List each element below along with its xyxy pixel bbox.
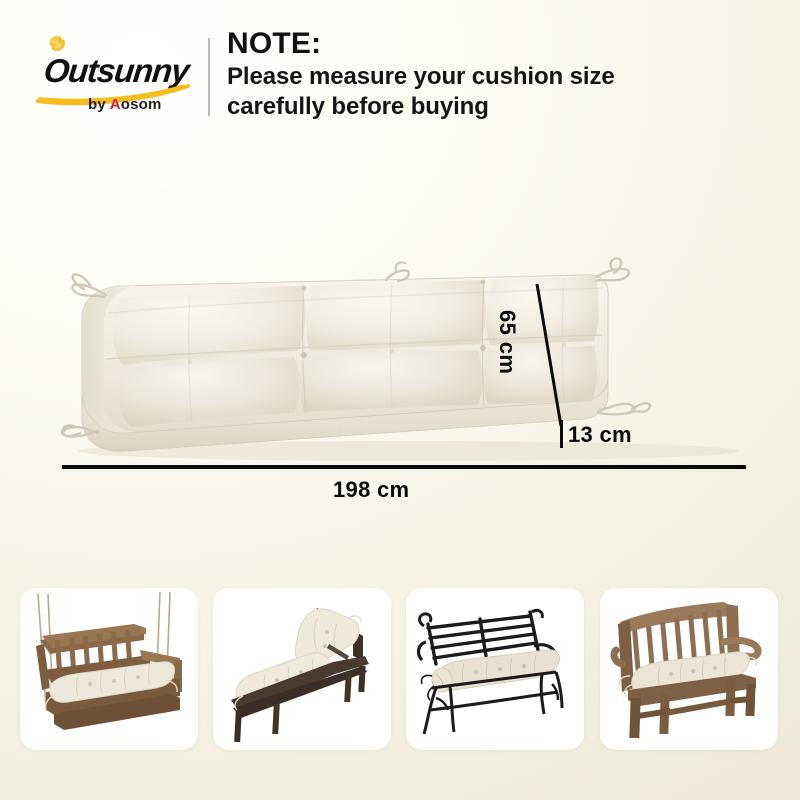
wooden-porch-swing-illustration xyxy=(20,588,198,750)
logo-byline: by Aosom xyxy=(88,96,162,113)
thumb-wooden-bench[interactable] xyxy=(600,588,778,750)
product-infographic-page: Outsunny by Aosom NOTE: Please measure y… xyxy=(0,0,800,800)
rattan-chaise-lounge-illustration xyxy=(213,588,391,750)
tufted-bench-cushion-illustration xyxy=(40,255,760,470)
byline-prefix: by xyxy=(88,96,110,113)
brand-logo: Outsunny by Aosom xyxy=(26,30,198,116)
thumb-porch-swing[interactable] xyxy=(20,588,198,750)
byline-rest: osom xyxy=(121,96,162,113)
byline-a: A xyxy=(110,96,121,113)
wooden-garden-bench-illustration xyxy=(600,588,778,750)
note-line-2: carefully before buying xyxy=(227,92,772,121)
header: Outsunny by Aosom NOTE: Please measure y… xyxy=(0,0,800,150)
cushion-image xyxy=(40,255,760,470)
header-divider xyxy=(208,38,210,116)
application-thumbnails xyxy=(0,588,800,753)
dimension-line-length xyxy=(62,465,746,469)
dimension-label-thickness: 13 cm xyxy=(568,422,632,448)
metal-garden-bench-illustration xyxy=(406,588,584,750)
dimension-line-height xyxy=(520,280,580,430)
thumb-metal-bench[interactable] xyxy=(406,588,584,750)
dimension-line-thickness xyxy=(560,420,563,448)
dimension-label-length: 198 cm xyxy=(333,477,409,503)
note-line-1: Please measure your cushion size xyxy=(227,62,772,91)
note-block: NOTE: Please measure your cushion size c… xyxy=(227,28,772,121)
dimension-label-height: 65 cm xyxy=(494,310,520,400)
hero-product-area: 198 cm 65 cm 13 cm xyxy=(0,150,800,570)
thumb-chaise-lounge[interactable] xyxy=(213,588,391,750)
note-title: NOTE: xyxy=(227,28,772,60)
note-body: Please measure your cushion size careful… xyxy=(227,62,772,121)
